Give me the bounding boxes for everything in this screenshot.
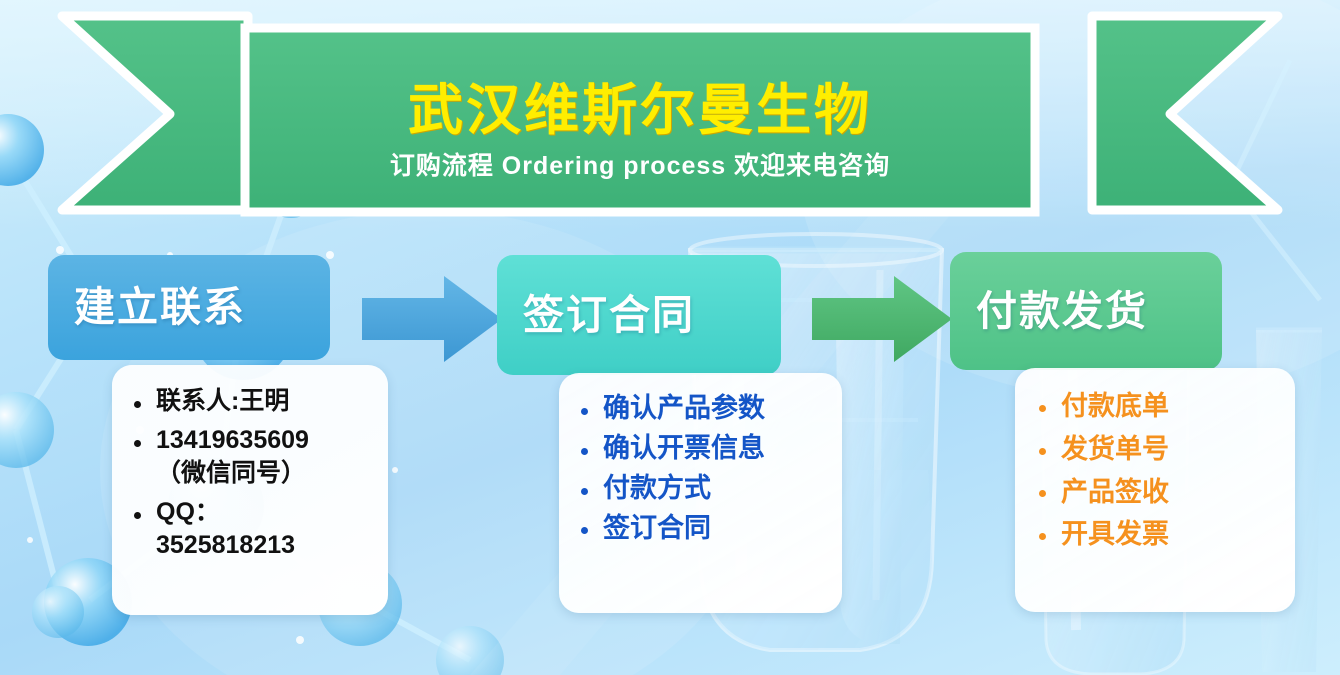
list-item: 确认产品参数 <box>577 391 834 427</box>
list-item: 13419635609 （微信同号） <box>130 424 380 490</box>
ribbon-banner: 武汉维斯尔曼生物 订购流程 Ordering process 欢迎来电咨询 <box>0 8 1340 223</box>
list-item: 确认开票信息 <box>577 431 834 467</box>
arrow-right-icon <box>362 276 502 362</box>
list-item: 发货单号 <box>1035 431 1287 469</box>
list-item: 开具发票 <box>1035 516 1287 554</box>
step-item-list: 确认产品参数 确认开票信息 付款方式 签订合同 <box>577 391 834 547</box>
list-item: 签订合同 <box>577 511 834 547</box>
list-item: 产品签收 <box>1035 474 1287 512</box>
list-item: 联系人:王明 <box>130 385 380 418</box>
step-header-contact: 建立联系 <box>48 255 330 360</box>
list-item: QQ： 3525818213 <box>130 496 380 562</box>
arrow-contract-to-payment <box>812 276 952 362</box>
step-header-label: 签订合同 <box>523 295 695 336</box>
arrow-contact-to-contract <box>362 276 502 362</box>
step-body-contract: 确认产品参数 确认开票信息 付款方式 签订合同 <box>559 373 842 613</box>
list-item: 付款方式 <box>577 471 834 507</box>
poster-canvas: 武汉维斯尔曼生物 订购流程 Ordering process 欢迎来电咨询 建立… <box>0 0 1340 675</box>
step-header-contract: 签订合同 <box>497 255 781 375</box>
step-item-list: 付款底单 发货单号 产品签收 开具发票 <box>1035 388 1287 554</box>
step-card-contract[interactable]: 签订合同 确认产品参数 确认开票信息 付款方式 签订合同 <box>497 255 842 615</box>
step-header-payment: 付款发货 <box>950 252 1222 370</box>
step-header-label: 建立联系 <box>74 287 246 328</box>
list-item: 付款底单 <box>1035 388 1287 426</box>
step-card-contact[interactable]: 建立联系 联系人:王明 13419635609 （微信同号） QQ： 35258… <box>48 255 388 615</box>
step-header-label: 付款发货 <box>976 291 1148 332</box>
step-item-list: 联系人:王明 13419635609 （微信同号） QQ： 3525818213 <box>130 385 380 562</box>
banner-title: 武汉维斯尔曼生物 <box>408 81 872 139</box>
step-card-payment[interactable]: 付款发货 付款底单 发货单号 产品签收 开具发票 <box>950 252 1295 612</box>
step-body-contact: 联系人:王明 13419635609 （微信同号） QQ： 3525818213 <box>112 365 388 615</box>
step-body-payment: 付款底单 发货单号 产品签收 开具发票 <box>1015 368 1295 612</box>
arrow-right-icon <box>812 276 952 362</box>
banner-subtitle: 订购流程 Ordering process 欢迎来电咨询 <box>390 153 890 181</box>
